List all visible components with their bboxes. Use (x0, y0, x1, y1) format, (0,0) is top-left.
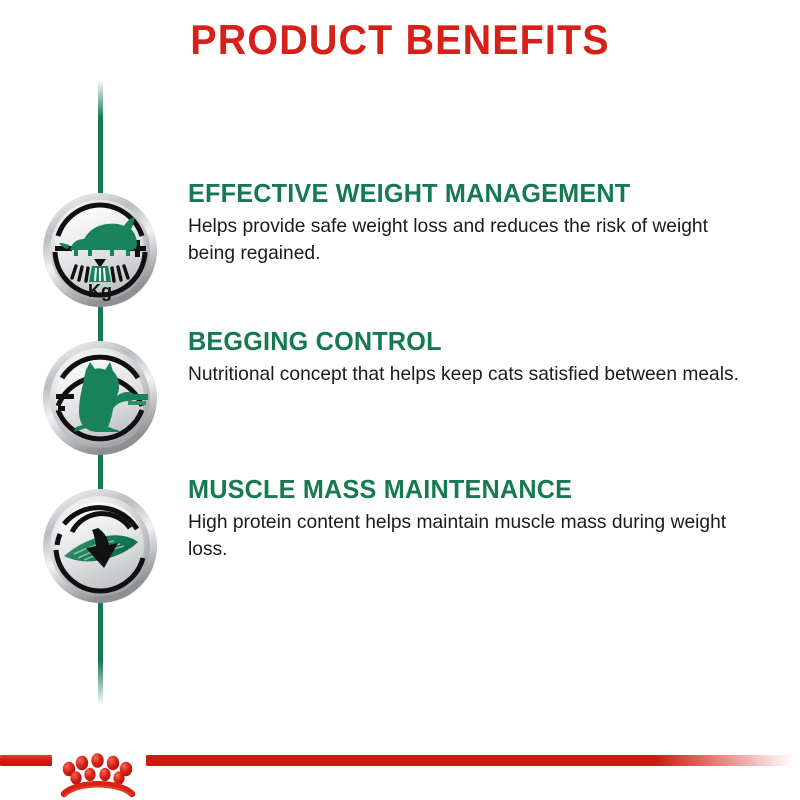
benefit-text-block: EFFECTIVE WEIGHT MANAGEMENT Helps provid… (188, 178, 778, 267)
footer-red-bar-right (146, 755, 800, 766)
benefit-body: Helps provide safe weight loss and reduc… (188, 213, 755, 267)
cat-weight-scale-icon: Kg (42, 192, 158, 308)
benefit-text-block: MUSCLE MASS MAINTENANCE High protein con… (188, 474, 778, 563)
benefit-item: BEGGING CONTROL Nutritional concept that… (0, 326, 800, 466)
footer-red-bar-left (0, 755, 52, 766)
benefit-body: Nutritional concept that helps keep cats… (188, 361, 755, 388)
benefit-text-block: BEGGING CONTROL Nutritional concept that… (188, 326, 778, 388)
benefit-body: High protein content helps maintain musc… (188, 509, 755, 563)
royal-canin-crown-logo (52, 743, 144, 799)
muscle-fiber-arrow-icon (42, 488, 158, 604)
benefit-item: Kg EFFECTIVE WEIGHT MANAGEMENT Helps pro… (0, 178, 800, 318)
icon-kg-label: Kg (88, 281, 112, 301)
benefit-heading: BEGGING CONTROL (188, 326, 760, 356)
page-title: PRODUCT BENEFITS (24, 16, 776, 64)
benefit-heading: MUSCLE MASS MAINTENANCE (188, 474, 760, 504)
begging-cat-icon (42, 340, 158, 456)
footer-bar (0, 745, 800, 800)
benefit-item: MUSCLE MASS MAINTENANCE High protein con… (0, 474, 800, 614)
benefit-heading: EFFECTIVE WEIGHT MANAGEMENT (188, 178, 760, 208)
